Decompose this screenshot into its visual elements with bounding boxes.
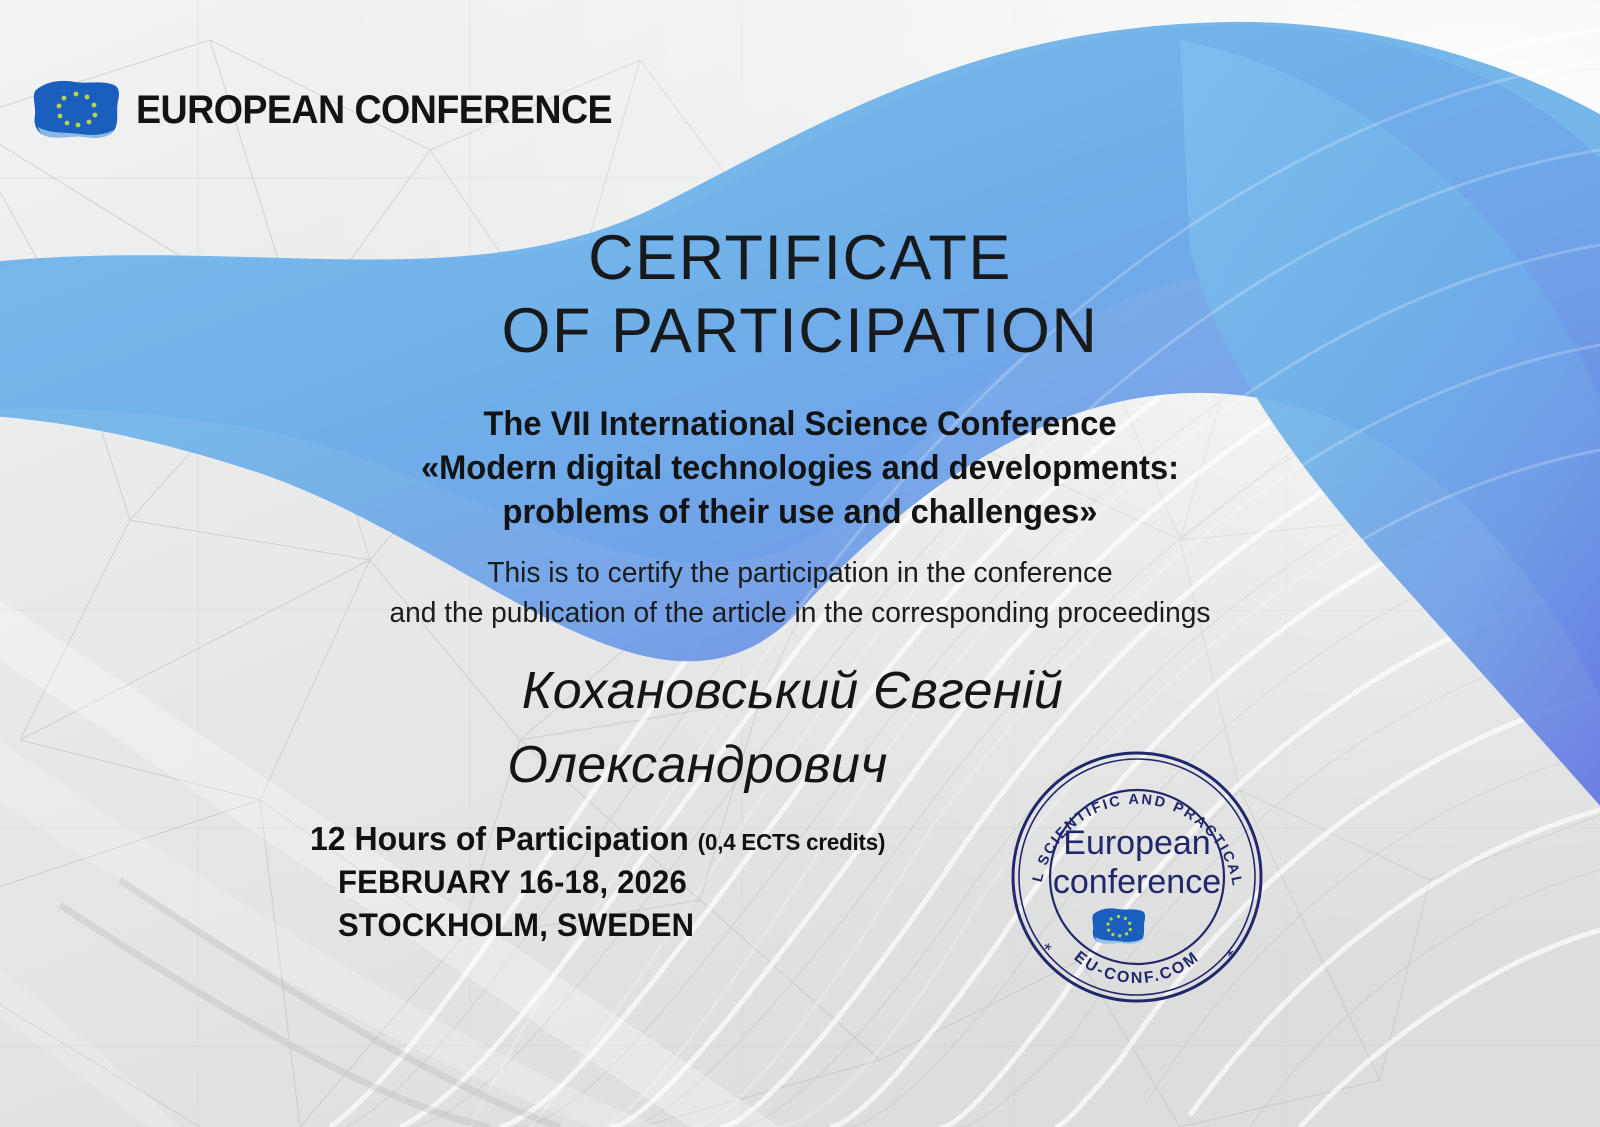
recipient-name: Кохановський Євгеній Олександрович bbox=[0, 655, 1600, 803]
recipient-name-line-1: Кохановський Євгеній bbox=[0, 655, 1600, 729]
certify-statement: This is to certify the participation in … bbox=[0, 553, 1600, 633]
brand-logo: EUROPEAN CONFERENCE bbox=[30, 77, 642, 143]
conference-line-3: problems of their use and challenges» bbox=[32, 491, 1568, 535]
participation-details: 12 Hours of Participation (0,4 ECTS cred… bbox=[310, 818, 903, 948]
ects-credits: (0,4 ECTS credits) bbox=[698, 829, 885, 855]
brand-title: EUROPEAN CONFERENCE bbox=[136, 88, 612, 133]
seal-bottom-text: EU-CONF.COM bbox=[1071, 948, 1203, 987]
conference-seal: INTERNATIONAL SCIENTIFIC AND PRACTICAL C… bbox=[1008, 748, 1266, 1006]
seal-star-left: * bbox=[1040, 940, 1062, 958]
conference-line-2: «Modern digital technologies and develop… bbox=[32, 447, 1568, 491]
event-date: FEBRUARY 16-18, 2026 bbox=[338, 861, 886, 905]
eu-flag-brush-icon bbox=[30, 77, 122, 143]
certificate-page: EUROPEAN CONFERENCE CERTIFICATE OF PARTI… bbox=[0, 0, 1600, 1127]
certify-line-1: This is to certify the participation in … bbox=[24, 553, 1576, 593]
conference-line-1: The VII International Science Conference bbox=[32, 403, 1568, 447]
seal-center-line-2: conference bbox=[1053, 863, 1221, 901]
seal-center-line-1: European bbox=[1063, 824, 1210, 862]
hours-of-participation: 12 Hours of Participation (0,4 ECTS cred… bbox=[310, 818, 885, 861]
event-location: STOCKHOLM, SWEDEN bbox=[338, 904, 886, 948]
certify-line-2: and the publication of the article in th… bbox=[24, 593, 1576, 633]
recipient-name-line-2: Олександрович bbox=[0, 729, 1600, 803]
hours-label: 12 Hours of Participation bbox=[310, 820, 689, 857]
eu-flag-brush-icon bbox=[1092, 908, 1145, 943]
conference-title: The VII International Science Conference… bbox=[0, 403, 1600, 535]
